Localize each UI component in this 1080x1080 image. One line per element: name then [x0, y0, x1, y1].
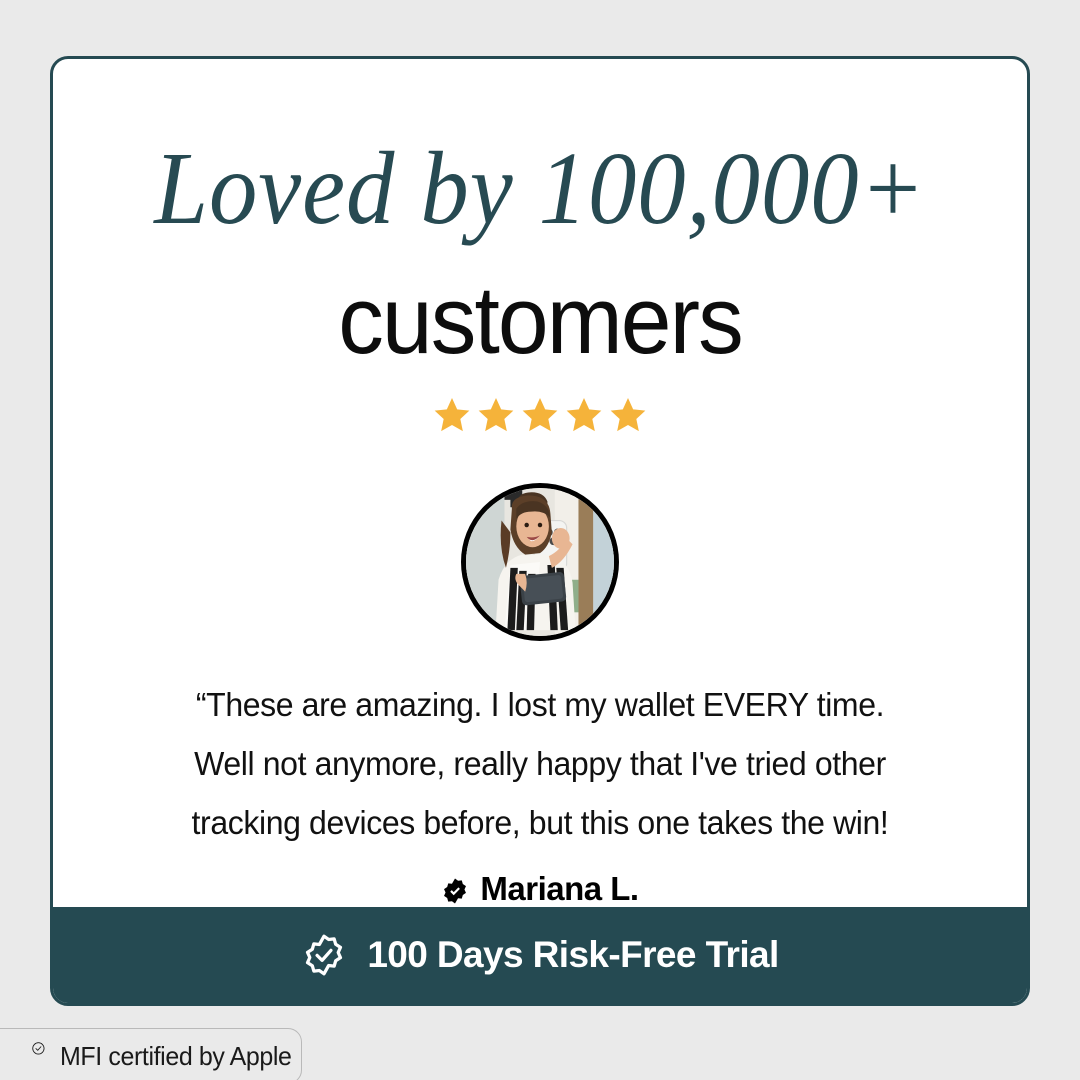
- testimonial-card: Loved by 100,000+ customers: [50, 56, 1030, 1006]
- risk-free-trial-bar: 100 Days Risk-Free Trial: [53, 907, 1027, 1003]
- star-icon: [564, 395, 604, 435]
- headline-primary: Loved by 100,000+: [87, 137, 993, 241]
- customer-avatar: [461, 483, 619, 641]
- headline-block: Loved by 100,000+ customers: [53, 59, 1027, 908]
- quote-line: “These are amazing. I lost my wallet EVE…: [152, 675, 928, 734]
- mfi-certified-badge: MFI certified by Apple: [0, 1028, 302, 1080]
- author-name: Mariana L.: [480, 870, 638, 908]
- testimonial-author: Mariana L.: [53, 870, 1027, 908]
- star-icon: [476, 395, 516, 435]
- testimonial-quote: “These are amazing. I lost my wallet EVE…: [152, 675, 928, 852]
- verified-badge-icon: [441, 875, 469, 903]
- circle-check-icon: [31, 1041, 46, 1071]
- quote-line: Well not anymore, really happy that I've…: [152, 734, 928, 793]
- avatar-illustration: [466, 488, 614, 636]
- mfi-label: MFI certified by Apple: [60, 1041, 292, 1072]
- quote-line: tracking devices before, but this one ta…: [152, 793, 928, 852]
- testimonial-ad-canvas: Loved by 100,000+ customers: [0, 0, 1080, 1080]
- star-icon: [608, 395, 648, 435]
- star-icon: [432, 395, 472, 435]
- trial-label: 100 Days Risk-Free Trial: [367, 934, 778, 976]
- star-rating: [53, 395, 1027, 435]
- avatar-row: [53, 483, 1027, 641]
- star-icon: [520, 395, 560, 435]
- headline-secondary: customers: [77, 273, 1002, 369]
- badge-check-icon: [301, 932, 347, 978]
